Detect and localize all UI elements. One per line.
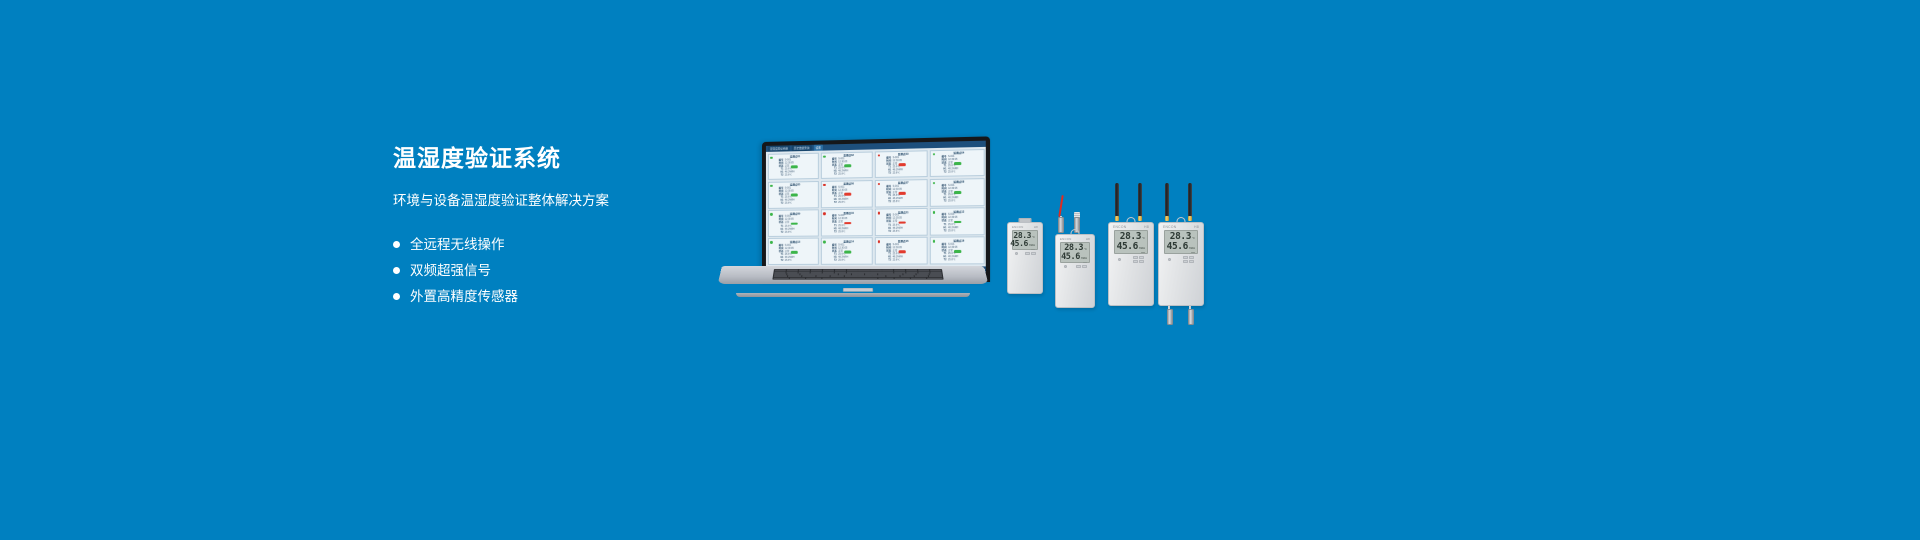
- monitor-card[interactable]: 监测点07编号S-001时间12:30:05状态正常T125.6℃H148.2%…: [875, 179, 929, 207]
- monitor-card-grid: 监测点01编号S-001时间12:30:05状态正常T125.6℃H148.2%…: [766, 147, 986, 267]
- down-button[interactable]: [1031, 252, 1036, 255]
- battery-icon: [1083, 262, 1087, 264]
- keyboard-key: [773, 278, 789, 280]
- status-badge: [844, 222, 851, 225]
- status-indicator-icon: [933, 182, 936, 185]
- field-value: 25.8℃: [893, 259, 900, 262]
- device-model: H8: [1034, 225, 1038, 229]
- status-indicator-icon: [877, 154, 879, 156]
- monitor-card-row: T225.8℃: [774, 231, 816, 234]
- monitor-card[interactable]: 监测点08编号S-001时间12:30:05状态正常T125.6℃H148.2%…: [930, 178, 985, 207]
- status-indicator-icon: [770, 241, 772, 243]
- status-badge: [899, 221, 906, 224]
- up-button[interactable]: [1133, 256, 1138, 259]
- antenna-right-icon: [1138, 183, 1142, 217]
- monitor-card-row: T225.8℃: [828, 173, 870, 177]
- status-badge: [899, 163, 906, 166]
- device-lcd-display: 28.3 ℃ 45.6 %RH: [1012, 230, 1038, 250]
- field-value: 25.8℃: [948, 172, 955, 175]
- status-indicator-icon: [877, 212, 879, 214]
- status-indicator-icon: [933, 211, 936, 213]
- antenna-base-right: [1188, 216, 1192, 221]
- keyboard-key: [894, 278, 910, 280]
- field-value: 25.8℃: [785, 231, 792, 234]
- humidity-unit: %RH: [1189, 248, 1195, 251]
- feature-label: 双频超强信号: [410, 258, 491, 283]
- humidity-value: 45.6: [1167, 242, 1188, 252]
- device-lcd-display: 28.3 ℃ 45.6 %RH: [1060, 242, 1090, 263]
- humidity-unit: %RH: [1139, 248, 1145, 251]
- laptop-touchpad: [843, 288, 873, 291]
- humidity-reading: 45.6 %RH: [1117, 242, 1145, 252]
- page-subtitle: 环境与设备温湿度验证整体解决方案: [393, 191, 733, 211]
- status-badge: [791, 165, 798, 168]
- field-key: T2: [882, 173, 891, 176]
- device-body: ENCON H8 28.3 ℃ 45.6 %RH: [1055, 234, 1095, 308]
- device-brandbar: ENCON H8: [1109, 223, 1153, 230]
- humidity-reading: 45.6 %RH: [1063, 253, 1087, 262]
- lcd-indicator-row: [1167, 252, 1195, 254]
- field-key: T2: [774, 260, 783, 263]
- field-key: T2: [828, 202, 837, 205]
- keypad: [1076, 265, 1087, 268]
- laptop-base: [722, 266, 984, 298]
- field-value: 25.8℃: [893, 173, 900, 176]
- up-button[interactable]: [1183, 256, 1188, 259]
- status-indicator-icon: [933, 240, 936, 242]
- status-badge: [954, 162, 961, 165]
- external-probe-left: [1167, 309, 1173, 325]
- device-brand: ENCON: [1012, 225, 1024, 229]
- device-wireless-1: ENCON H8 28.3 ℃ 45.6 %RH: [1108, 183, 1154, 306]
- monitor-card[interactable]: 监测点05编号S-001时间12:30:05状态正常T125.6℃H148.2%…: [767, 181, 819, 209]
- down-button[interactable]: [1139, 256, 1144, 259]
- list-item: 双频超强信号: [393, 258, 733, 283]
- laptop-lid: 温湿度验证系统 历史数据查询 设置 监测点01编号S-001时间12:30:05…: [762, 136, 990, 282]
- antenna-right-icon: [1188, 183, 1192, 217]
- field-value: 25.8℃: [893, 202, 900, 205]
- monitor-card[interactable]: 监测点09编号S-001时间12:30:05状态正常T125.6℃H148.2%…: [767, 209, 819, 236]
- enter-button[interactable]: [1139, 260, 1144, 263]
- field-key: T2: [828, 174, 837, 177]
- down-button[interactable]: [1082, 265, 1087, 268]
- keypad: [1133, 256, 1144, 263]
- humidity-value: 45.6: [1061, 253, 1080, 262]
- status-badge: [791, 194, 798, 197]
- feature-list: 全远程无线操作 双频超强信号 外置高精度传感器: [393, 232, 733, 309]
- status-indicator-icon: [933, 153, 936, 156]
- field-value: 25.8℃: [893, 230, 900, 233]
- field-value: 25.8℃: [948, 259, 955, 262]
- list-item: 全远程无线操作: [393, 232, 733, 257]
- device-model: H8: [1144, 225, 1149, 229]
- monitor-card[interactable]: 监测点16编号S-001时间12:30:05状态正常T125.6℃H148.2%…: [930, 237, 985, 265]
- status-badge: [844, 250, 851, 253]
- device-model: H8: [1194, 225, 1199, 229]
- field-key: T2: [774, 203, 783, 206]
- field-value: 25.8℃: [838, 202, 845, 205]
- status-indicator-icon: [877, 241, 879, 243]
- field-key: T2: [882, 231, 891, 234]
- keyboard-key: [910, 278, 926, 280]
- device-brandbar: ENCON H8: [1056, 235, 1094, 242]
- field-key: T2: [882, 202, 891, 205]
- field-key: T2: [774, 175, 783, 178]
- device-buttons: [1159, 254, 1203, 263]
- status-badge: [899, 250, 906, 253]
- device-body: ENCON H8 28.3 ℃ 45.6 %RH: [1108, 222, 1154, 306]
- humidity-value: 45.6: [1010, 240, 1028, 248]
- laptop-illustration: 温湿度验证系统 历史数据查询 设置 监测点01编号S-001时间12:30:05…: [722, 142, 984, 298]
- device-body: ENCON H8 28.3 ℃ 45.6 %RH: [1158, 222, 1204, 306]
- status-indicator-icon: [823, 241, 825, 243]
- antenna-base-left: [1115, 216, 1119, 221]
- device-lcd-display: 28.3 ℃ 45.6 %RH: [1114, 230, 1148, 254]
- bullet-dot-icon: [393, 293, 400, 300]
- status-indicator-icon: [770, 156, 772, 158]
- battery-icon: [1031, 249, 1035, 251]
- lcd-indicator-row: [1117, 252, 1145, 254]
- field-value: 25.8℃: [785, 260, 792, 263]
- field-key: T2: [828, 231, 837, 234]
- monitor-card-row: T225.8℃: [774, 260, 816, 263]
- external-probe-right: [1188, 309, 1194, 325]
- device-buttons: [1056, 263, 1094, 268]
- page-title: 温湿度验证系统: [393, 143, 733, 173]
- list-item: 外置高精度传感器: [393, 284, 733, 309]
- keyboard-key: [878, 278, 894, 280]
- field-key: T2: [937, 201, 946, 204]
- antenna-base-left: [1165, 216, 1169, 221]
- monitor-card[interactable]: 监测点15编号S-001时间12:30:05状态正常T125.6℃H148.2%…: [875, 237, 929, 265]
- monitor-card[interactable]: 监测点03编号S-001时间12:30:05状态正常T125.6℃H148.2%…: [875, 150, 929, 179]
- antenna-base-right: [1138, 216, 1142, 221]
- monitor-card-row: T225.8℃: [774, 203, 816, 207]
- keyboard-row: [773, 278, 942, 280]
- status-indicator-icon: [770, 185, 772, 187]
- sensor-wire: [1058, 195, 1063, 217]
- status-badge: [954, 221, 961, 224]
- temperature-unit: ℃: [1192, 238, 1195, 241]
- field-key: T2: [937, 230, 946, 233]
- monitor-card[interactable]: 监测点01编号S-001时间12:30:05状态正常T125.6℃H148.2%…: [767, 152, 819, 180]
- keyboard-key: [927, 278, 943, 280]
- battery-icon: [1141, 252, 1145, 254]
- field-key: T2: [828, 260, 837, 263]
- temperature-unit: ℃: [1084, 249, 1087, 252]
- device-buttons: [1008, 250, 1042, 255]
- field-key: T2: [882, 259, 891, 262]
- status-indicator-icon: [823, 155, 825, 157]
- field-key: T2: [937, 259, 946, 262]
- up-button[interactable]: [1025, 252, 1030, 255]
- status-indicator-icon: [770, 213, 772, 215]
- status-indicator-icon: [877, 183, 879, 185]
- humidity-unit: %RH: [1029, 245, 1035, 248]
- device-brandbar: ENCON H8: [1159, 223, 1203, 230]
- device-buttons: [1109, 254, 1153, 263]
- power-button[interactable]: [1118, 258, 1121, 261]
- monitor-card-row: T225.8℃: [937, 171, 981, 175]
- banner-copy: 温湿度验证系统 环境与设备温湿度验证整体解决方案 全远程无线操作 双频超强信号 …: [393, 143, 733, 310]
- monitor-card-row: T225.8℃: [882, 259, 925, 262]
- laptop-screen: 温湿度验证系统 历史数据查询 设置 监测点01编号S-001时间12:30:05…: [766, 141, 986, 273]
- up-button[interactable]: [1076, 265, 1081, 268]
- bullet-dot-icon: [393, 241, 400, 248]
- status-badge: [791, 222, 798, 225]
- status-badge: [844, 193, 851, 196]
- device-brandbar: ENCON H8: [1008, 223, 1042, 230]
- keypad: [1183, 256, 1194, 263]
- humidity-reading: 45.6 %RH: [1167, 242, 1195, 252]
- bullet-dot-icon: [393, 267, 400, 274]
- set-button[interactable]: [1183, 260, 1188, 263]
- status-badge: [954, 250, 961, 253]
- temperature-unit: ℃: [1142, 238, 1145, 241]
- set-button[interactable]: [1133, 260, 1138, 263]
- monitor-card-row: T225.8℃: [774, 174, 816, 178]
- laptop-keyboard: [772, 269, 943, 280]
- device-brand: ENCON: [1060, 237, 1072, 241]
- monitor-card[interactable]: 监测点12编号S-001时间12:30:05状态正常T125.6℃H148.2%…: [930, 207, 985, 235]
- status-badge: [844, 164, 851, 167]
- lcd-indicator-row: [1063, 262, 1087, 264]
- status-badge: [899, 192, 906, 195]
- monitor-card-row: T225.8℃: [882, 172, 925, 176]
- monitor-card[interactable]: 监测点13编号S-001时间12:30:05状态正常T125.6℃H148.2%…: [767, 238, 819, 265]
- monitor-card[interactable]: 监测点14编号S-001时间12:30:05状态正常T125.6℃H148.2%…: [820, 237, 873, 264]
- feature-label: 全远程无线操作: [410, 232, 505, 257]
- humidity-value: 45.6: [1117, 242, 1138, 252]
- enter-button[interactable]: [1189, 260, 1194, 263]
- device-wireless-2: ENCON H8 28.3 ℃ 45.6 %RH: [1158, 183, 1204, 306]
- product-banner: 温湿度验证系统 环境与设备温湿度验证整体解决方案 全远程无线操作 双频超强信号 …: [0, 0, 1920, 540]
- field-value: 25.8℃: [785, 203, 792, 206]
- power-button[interactable]: [1015, 252, 1018, 255]
- field-value: 25.8℃: [838, 231, 845, 234]
- keyboard-key: [790, 278, 806, 280]
- device-brand: ENCON: [1113, 225, 1126, 229]
- monitor-card-row: T225.8℃: [937, 230, 981, 234]
- monitor-card-row: T225.8℃: [828, 202, 870, 206]
- field-value: 25.8℃: [948, 230, 955, 233]
- laptop-front-lip: [736, 293, 970, 297]
- temperature-unit: ℃: [1032, 237, 1035, 240]
- field-value: 25.8℃: [838, 174, 845, 177]
- antenna-left-icon: [1165, 183, 1169, 217]
- field-key: T2: [774, 232, 783, 235]
- monitor-card-row: T225.8℃: [828, 231, 870, 235]
- status-badge: [791, 251, 798, 254]
- monitor-card[interactable]: 监测点04编号S-001时间12:30:05状态正常T125.6℃H148.2%…: [930, 148, 985, 177]
- device-body: ENCON H8 28.3 ℃ 45.6 %RH: [1007, 222, 1043, 294]
- field-key: T2: [937, 172, 946, 175]
- monitor-card-row: T225.8℃: [882, 201, 925, 205]
- field-value: 25.8℃: [948, 201, 955, 204]
- device-model: H8: [1086, 237, 1090, 241]
- monitor-card[interactable]: 监测点06编号S-001时间12:30:05状态正常T125.6℃H148.2%…: [820, 180, 873, 208]
- monitor-card-row: T225.8℃: [882, 230, 925, 234]
- keyboard-key: [823, 278, 877, 280]
- lcd-indicator-row: [1015, 249, 1035, 251]
- monitor-card[interactable]: 监测点11编号S-001时间12:30:05状态正常T125.6℃H148.2%…: [875, 208, 929, 236]
- monitor-card-row: T225.8℃: [828, 260, 870, 263]
- probe-connector: [1058, 217, 1064, 233]
- down-button[interactable]: [1189, 256, 1194, 259]
- power-button[interactable]: [1168, 258, 1171, 261]
- humidity-unit: %RH: [1081, 258, 1087, 261]
- battery-icon: [1191, 252, 1195, 254]
- device-logger-basic: ENCON H8 28.3 ℃ 45.6 %RH: [1007, 218, 1043, 294]
- device-brand: ENCON: [1163, 225, 1176, 229]
- status-indicator-icon: [823, 212, 825, 214]
- status-badge: [954, 191, 961, 194]
- monitor-card[interactable]: 监测点02编号S-001时间12:30:05状态正常T125.6℃H148.2%…: [820, 151, 873, 179]
- monitor-card-row: T225.8℃: [937, 259, 981, 262]
- feature-label: 外置高精度传感器: [410, 284, 518, 309]
- keyboard-key: [806, 278, 822, 280]
- status-indicator-icon: [823, 184, 825, 186]
- field-value: 25.8℃: [785, 175, 792, 178]
- device-logger-probe: ENCON H8 28.3 ℃ 45.6 %RH: [1055, 196, 1095, 308]
- device-lcd-display: 28.3 ℃ 45.6 %RH: [1164, 230, 1198, 254]
- field-value: 25.8℃: [838, 260, 845, 263]
- power-button[interactable]: [1064, 265, 1067, 268]
- monitor-card[interactable]: 监测点10编号S-001时间12:30:05状态正常T125.6℃H148.2%…: [820, 209, 873, 237]
- monitor-card-row: T225.8℃: [937, 200, 981, 204]
- antenna-left-icon: [1115, 183, 1119, 217]
- humidity-reading: 45.6 %RH: [1015, 240, 1035, 248]
- keypad: [1025, 252, 1036, 255]
